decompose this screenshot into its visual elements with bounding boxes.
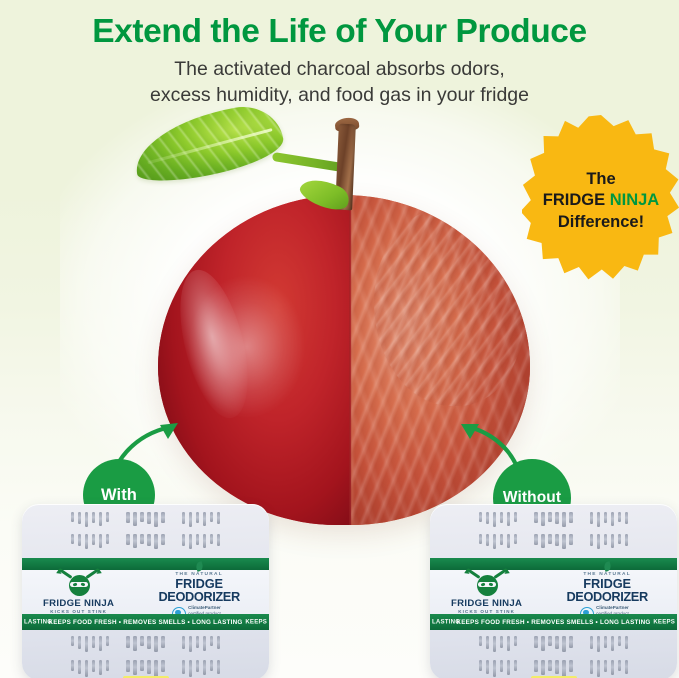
package-band-bottom: LASTING KEEPS FOOD FRESH • REMOVES SMELL…: [430, 614, 677, 630]
vent-slot: [133, 534, 136, 548]
vent-slot: [562, 512, 565, 527]
vent-slot: [196, 636, 199, 648]
vent-slot: [548, 660, 551, 671]
vent-group: [182, 660, 220, 678]
vent-slot: [126, 512, 129, 523]
vent-slot: [597, 660, 600, 677]
vent-slot: [182, 660, 185, 674]
vent-slot: [500, 512, 503, 523]
vent-slot: [71, 660, 74, 671]
vent-slot: [92, 534, 95, 545]
vent-slot: [604, 534, 607, 545]
vent-slot: [618, 512, 621, 522]
badge-brand-ninja: NINJA: [610, 191, 660, 209]
vent-slot: [140, 636, 143, 646]
vent-slot: [126, 636, 129, 648]
vent-row-bottom-1: [22, 636, 269, 653]
vent-slot: [479, 534, 482, 544]
vent-slot: [507, 512, 510, 526]
package-label: FRIDGE NINJA KICKS OUT STINK THE NATURAL…: [430, 570, 677, 614]
badge-line-1: The: [586, 170, 615, 189]
vent-slot: [604, 512, 607, 523]
vent-slot: [147, 660, 150, 674]
vent-slot: [71, 636, 74, 646]
vent-slot: [217, 660, 220, 674]
vent-slot: [618, 534, 621, 544]
vent-slot: [133, 636, 136, 651]
vent-slot: [161, 660, 164, 672]
vent-group: [590, 660, 628, 678]
vent-slot: [161, 636, 164, 648]
vent-group: [534, 636, 572, 653]
vent-group: [534, 512, 572, 528]
vent-slot: [493, 636, 496, 652]
vent-group: [182, 636, 220, 653]
difference-badge: The FRIDGE NINJA Difference!: [522, 115, 679, 287]
vent-slot: [126, 660, 129, 672]
vent-slot: [569, 512, 572, 523]
vent-slot: [534, 636, 537, 648]
ninja-blade-right: [493, 568, 507, 579]
vent-slot: [189, 636, 192, 652]
vent-slot: [140, 660, 143, 671]
vent-slot: [555, 660, 558, 674]
ninja-blade-right: [85, 568, 99, 579]
vent-slot: [189, 534, 192, 549]
vent-slot: [85, 534, 88, 549]
vent-slot: [625, 534, 628, 546]
vent-slot: [189, 512, 192, 527]
vent-slot: [548, 512, 551, 522]
vent-slot: [106, 534, 109, 544]
leaf-icon: [602, 562, 611, 573]
vent-slot: [514, 660, 517, 671]
vent-slot: [99, 636, 102, 651]
vent-slot: [140, 534, 143, 544]
leaf-icon: [194, 562, 203, 573]
vent-slot: [479, 636, 482, 646]
vent-group: [126, 636, 164, 653]
vent-row-top-2: [430, 534, 677, 550]
vent-slot: [514, 512, 517, 522]
vent-slot: [500, 636, 503, 648]
vent-slot: [78, 660, 81, 674]
vent-slot: [555, 534, 558, 546]
vent-slot: [569, 534, 572, 545]
vent-group: [590, 512, 628, 528]
header-block: Extend the Life of Your Produce The acti…: [0, 14, 679, 109]
subtitle-line-2: excess humidity, and food gas in your fr…: [0, 83, 679, 109]
vent-slot: [597, 512, 600, 527]
vent-slot: [217, 534, 220, 546]
vent-group: [534, 534, 572, 550]
vent-slot: [534, 534, 537, 545]
vent-slot: [85, 636, 88, 652]
vent-slot: [161, 512, 164, 523]
vent-slot: [541, 534, 544, 548]
band-edge-right-text: KEEPS: [653, 619, 675, 626]
vent-slot: [147, 534, 150, 546]
vent-group: [479, 660, 517, 678]
vent-slot: [85, 512, 88, 527]
product-name-block: THE NATURAL FRIDGE DEODORIZER ClimatePar…: [135, 562, 269, 621]
vent-slot: [625, 512, 628, 524]
vent-slot: [493, 534, 496, 549]
package-benefits-text: KEEPS FOOD FRESH • REMOVES SMELLS • LONG…: [22, 619, 269, 626]
vent-group: [182, 512, 220, 528]
vent-slot: [203, 660, 206, 675]
ninja-mascot-icon: [466, 571, 508, 596]
vent-group: [590, 534, 628, 550]
vent-slot: [106, 636, 109, 646]
vent-slot: [92, 512, 95, 523]
vent-slot: [486, 660, 489, 674]
brand-logo-block: FRIDGE NINJA KICKS OUT STINK: [22, 570, 135, 614]
vent-slot: [210, 636, 213, 646]
vent-slot: [569, 636, 572, 648]
vent-slot: [126, 534, 129, 545]
vent-slot: [203, 534, 206, 548]
badge-line-2: FRIDGE NINJA: [543, 191, 659, 210]
vent-slot: [196, 660, 199, 672]
vent-slot: [147, 512, 150, 524]
vent-slot: [555, 512, 558, 524]
vent-slot: [486, 636, 489, 649]
vent-slot: [507, 660, 510, 675]
vent-slot: [99, 512, 102, 526]
vent-slot: [78, 636, 81, 649]
vent-slot: [147, 636, 150, 649]
vent-slot: [189, 660, 192, 677]
vent-slot: [514, 636, 517, 646]
vent-row-top-1: [430, 512, 677, 528]
vent-slot: [618, 660, 621, 671]
vent-group: [182, 534, 220, 550]
vent-slot: [534, 512, 537, 523]
vent-slot: [99, 534, 102, 548]
product-title-line-2: DEODORIZER: [158, 590, 239, 603]
badge-line-3: Difference!: [558, 213, 644, 232]
brand-name: FRIDGE NINJA: [451, 598, 522, 609]
vent-slot: [562, 636, 565, 652]
vent-slot: [507, 636, 510, 651]
vent-slot: [604, 636, 607, 648]
vent-slot: [154, 512, 157, 527]
vent-slot: [140, 512, 143, 522]
vent-slot: [210, 660, 213, 671]
vent-slot: [590, 534, 593, 546]
vent-slot: [625, 636, 628, 649]
vent-slot: [611, 636, 614, 651]
page-subtitle: The activated charcoal absorbs odors, ex…: [0, 57, 679, 109]
vent-slot: [590, 660, 593, 674]
vent-slot: [597, 636, 600, 652]
vent-slot: [500, 660, 503, 672]
vent-slot: [507, 534, 510, 548]
vent-slot: [541, 512, 544, 526]
band-edge-right-text: KEEPS: [245, 619, 267, 626]
vent-group: [126, 534, 164, 550]
vent-slot: [196, 512, 199, 523]
vent-slot: [493, 512, 496, 527]
page-title: Extend the Life of Your Produce: [0, 14, 679, 50]
vent-slot: [154, 636, 157, 652]
vent-slot: [562, 534, 565, 549]
vent-slot: [196, 534, 199, 545]
vent-slot: [161, 534, 164, 545]
vent-slot: [541, 660, 544, 675]
package-label: FRIDGE NINJA KICKS OUT STINK THE NATURAL…: [22, 570, 269, 614]
vent-slot: [493, 660, 496, 677]
vent-group: [479, 534, 517, 550]
band-edge-left-text: LASTING: [24, 619, 52, 626]
vent-slot: [99, 660, 102, 675]
vent-group: [479, 512, 517, 528]
vent-slot: [541, 636, 544, 651]
brand-logo-block: FRIDGE NINJA KICKS OUT STINK: [430, 570, 543, 614]
vent-slot: [92, 660, 95, 672]
vent-slot: [78, 512, 81, 524]
package-benefits-text: KEEPS FOOD FRESH • REMOVES SMELLS • LONG…: [430, 619, 677, 626]
vent-slot: [154, 534, 157, 549]
vent-slot: [555, 636, 558, 649]
vent-slot: [133, 512, 136, 526]
vent-slot: [548, 534, 551, 544]
vent-slot: [479, 660, 482, 671]
band-edge-left-text: LASTING: [432, 619, 460, 626]
vent-slot: [106, 512, 109, 522]
vent-slot: [486, 534, 489, 546]
vent-slot: [106, 660, 109, 671]
vent-row-top-1: [22, 512, 269, 528]
vent-slot: [486, 512, 489, 524]
badge-text: The FRIDGE NINJA Difference!: [522, 115, 679, 287]
vent-slot: [500, 534, 503, 545]
vent-slot: [78, 534, 81, 546]
vent-slot: [203, 636, 206, 651]
vent-slot: [203, 512, 206, 526]
vent-slot: [133, 660, 136, 675]
product-infographic: Extend the Life of Your Produce The acti…: [0, 0, 679, 678]
vent-slot: [85, 660, 88, 677]
vent-slot: [611, 660, 614, 675]
vent-group: [71, 512, 109, 528]
vent-slot: [604, 660, 607, 672]
vent-slot: [217, 636, 220, 649]
vent-slot: [597, 534, 600, 549]
vent-slot: [182, 534, 185, 546]
vent-slot: [92, 636, 95, 648]
vent-row-bottom-1: [430, 636, 677, 653]
vent-slot: [625, 660, 628, 674]
vent-group: [71, 660, 109, 678]
vent-slot: [71, 512, 74, 522]
vent-group: [71, 636, 109, 653]
brand-name: FRIDGE NINJA: [43, 598, 114, 609]
vent-row-top-2: [22, 534, 269, 550]
vent-slot: [534, 660, 537, 672]
vent-slot: [217, 512, 220, 524]
vent-slot: [182, 512, 185, 524]
vent-slot: [548, 636, 551, 646]
vent-group: [479, 636, 517, 653]
vent-slot: [71, 534, 74, 544]
badge-brand-fridge: FRIDGE: [543, 191, 605, 209]
product-package-right: FRIDGE NINJA KICKS OUT STINK THE NATURAL…: [430, 504, 677, 678]
vent-slot: [611, 534, 614, 548]
vent-slot: [569, 660, 572, 672]
vent-slot: [590, 636, 593, 649]
package-band-bottom: LASTING KEEPS FOOD FRESH • REMOVES SMELL…: [22, 614, 269, 630]
vent-slot: [590, 512, 593, 524]
vent-slot: [611, 512, 614, 526]
vent-slot: [154, 660, 157, 677]
subtitle-line-1: The activated charcoal absorbs odors,: [0, 57, 679, 83]
label-with-text: With: [101, 486, 137, 505]
vent-slot: [618, 636, 621, 646]
product-package-left: FRIDGE NINJA KICKS OUT STINK THE NATURAL…: [22, 504, 269, 678]
product-name-block: THE NATURAL FRIDGE DEODORIZER ClimatePar…: [543, 562, 677, 621]
vent-group: [71, 534, 109, 550]
vent-slot: [182, 636, 185, 649]
vent-group: [590, 636, 628, 653]
apple-leaf-icon: [129, 100, 287, 187]
vent-slot: [210, 512, 213, 522]
vent-group: [126, 512, 164, 528]
vent-slot: [514, 534, 517, 544]
vent-slot: [210, 534, 213, 544]
product-title-line-2: DEODORIZER: [566, 590, 647, 603]
vent-slot: [562, 660, 565, 677]
ninja-mascot-icon: [58, 571, 100, 596]
vent-slot: [479, 512, 482, 522]
